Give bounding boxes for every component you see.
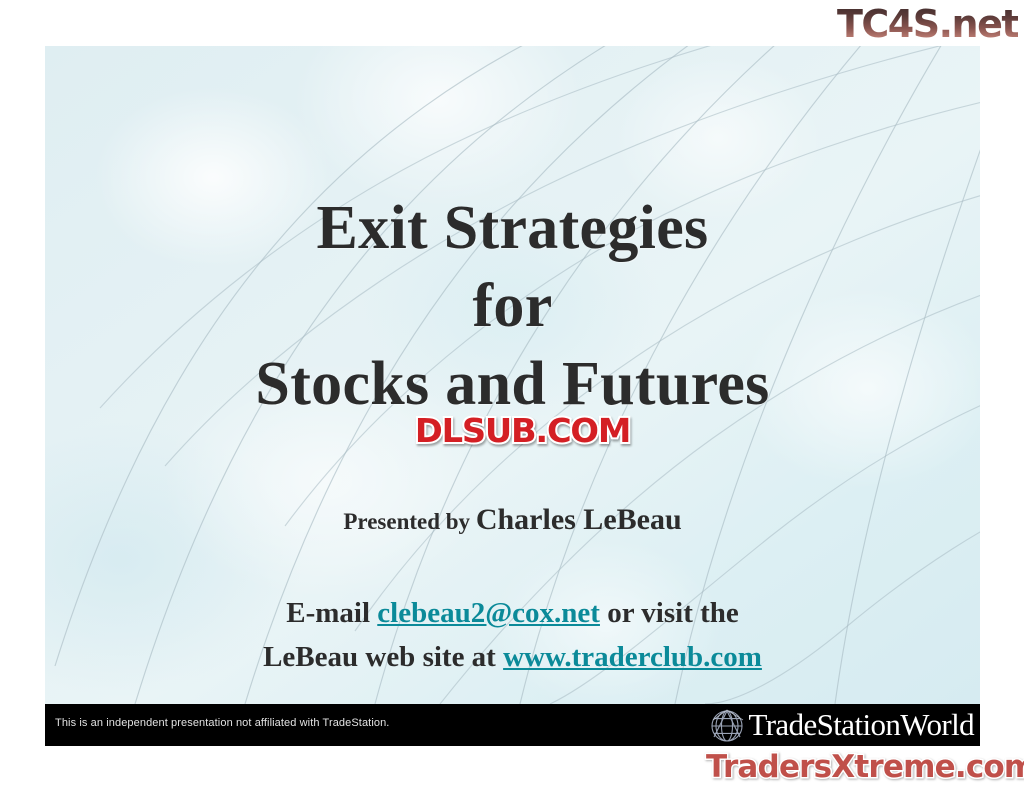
dlsub-watermark: DLSUB.COM xyxy=(415,411,630,450)
title-line-2: for xyxy=(45,267,980,345)
website-prefix-label: LeBeau web site at xyxy=(263,641,503,673)
title-line-1: Exit Strategies xyxy=(45,189,980,267)
presenter-prefix: Presented by xyxy=(343,509,475,534)
tradersxtreme-watermark: TradersXtreme.com xyxy=(706,749,1024,785)
email-prefix-label: E-mail xyxy=(286,597,377,629)
tc4s-watermark: TC4S.net xyxy=(837,2,1018,46)
disclaimer-text: This is an independent presentation not … xyxy=(55,717,389,729)
footer-bar: This is an independent presentation not … xyxy=(45,704,980,746)
globe-icon xyxy=(707,706,747,744)
tradestationworld-label: TradeStationWorld xyxy=(748,708,974,742)
contact-line-1: E-mail clebeau2@cox.net or visit the xyxy=(45,591,980,635)
presenter-name: Charles LeBeau xyxy=(476,503,682,536)
contact-line-2: LeBeau web site at www.traderclub.com xyxy=(45,635,980,679)
email-link[interactable]: clebeau2@cox.net xyxy=(377,597,600,629)
contact-info: E-mail clebeau2@cox.net or visit the LeB… xyxy=(45,591,980,679)
page-title: Exit Strategies for Stocks and Futures xyxy=(45,189,980,423)
website-link[interactable]: www.traderclub.com xyxy=(503,641,762,673)
presenter-credit: Presented by Charles LeBeau xyxy=(45,503,980,537)
tradestationworld-logo: TradeStationWorld xyxy=(707,706,974,744)
presentation-slide: Exit Strategies for Stocks and Futures P… xyxy=(45,46,980,704)
email-suffix-label: or visit the xyxy=(600,597,739,629)
